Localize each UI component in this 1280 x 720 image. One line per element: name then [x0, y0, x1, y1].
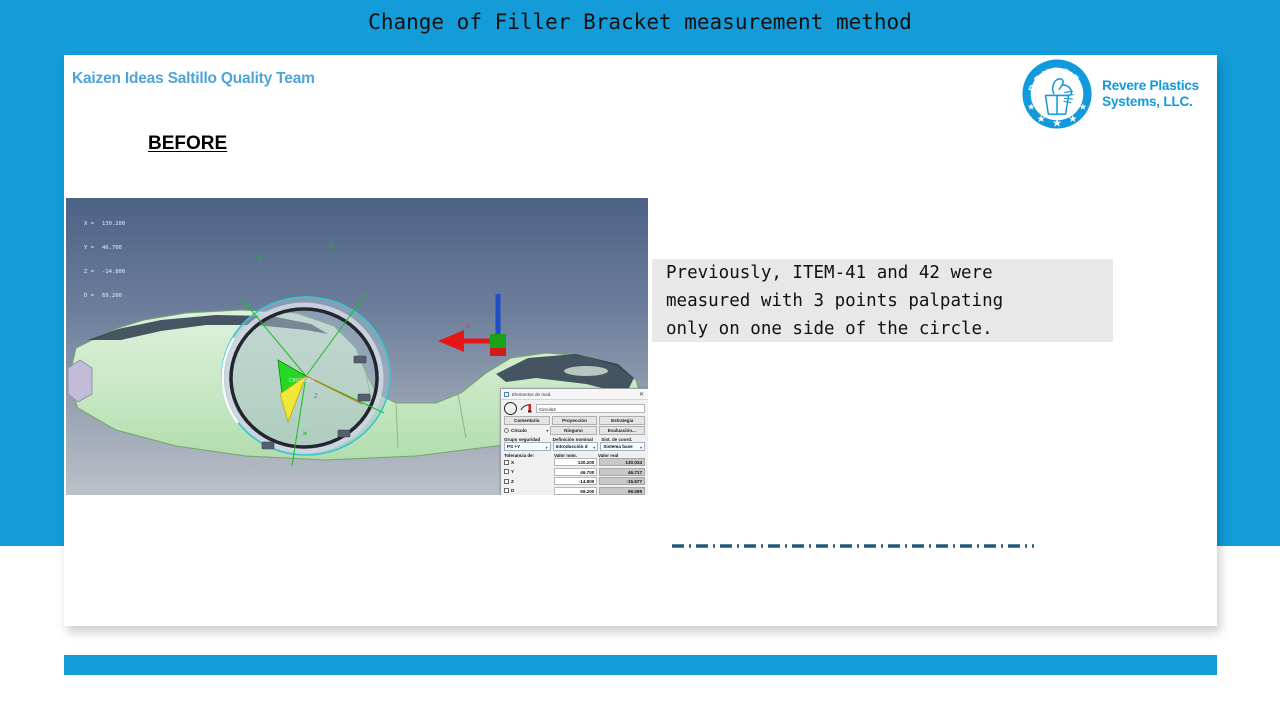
table-row[interactable]: Y 46.700 46.717: [501, 468, 648, 476]
row-label-d: D: [511, 488, 514, 493]
callout-textbox: Previously, ITEM-41 and 42 were measured…: [652, 259, 1113, 342]
circle-feature-icon: [504, 402, 517, 415]
evaluation-button[interactable]: Evaluación...: [599, 426, 645, 435]
header-tolerancia: Tolerancia de:: [504, 453, 554, 458]
checkbox-z[interactable]: [504, 479, 509, 484]
tab-comentario[interactable]: Comentario: [504, 416, 550, 425]
measurement-elements-dialog[interactable]: Elementos de med. ✕ Circulo2 Comentario …: [500, 388, 648, 495]
checkbox-y[interactable]: [504, 469, 509, 474]
row-label-x: X: [511, 460, 514, 465]
dialog-title: Elementos de med.: [512, 392, 639, 397]
radio-icon: [504, 428, 509, 433]
cmm-axis-triad: [490, 294, 506, 356]
dialog-selector-row: Círculo ▾ Ninguno Evaluación...: [501, 426, 648, 436]
nominal-y[interactable]: 46.700: [554, 468, 598, 476]
feature-name-input[interactable]: Circulo2: [536, 404, 645, 413]
nominal-z[interactable]: -14.800: [554, 477, 598, 485]
combo-definicion-nominal[interactable]: Introducción d▾: [553, 442, 599, 451]
table-row[interactable]: D 69.200 69.099: [501, 487, 648, 495]
table-row[interactable]: X 130.200 130.034: [501, 458, 648, 466]
svg-text:✕: ✕: [256, 255, 262, 262]
svg-text:✕: ✕: [302, 431, 308, 438]
checkbox-x[interactable]: [504, 460, 509, 465]
dash-dot-divider: [672, 544, 1034, 548]
probe-tool-icon: [520, 403, 533, 415]
real-x: 130.034: [599, 458, 645, 466]
real-y: 46.717: [599, 468, 645, 476]
svg-text:x: x: [466, 323, 470, 330]
company-logo: REVERE Revere Plastics Systems,: [1021, 58, 1199, 130]
table-row[interactable]: Z -14.800 -15.577: [501, 477, 648, 485]
before-label: BEFORE: [148, 133, 227, 155]
cad-measurement-screenshot: X =130.200 Y =46.700 Z =-14.800 D =69.20…: [66, 198, 648, 495]
deck-title: Change of Filler Bracket measurement met…: [0, 10, 1280, 34]
real-d: 69.099: [599, 487, 645, 495]
dialog-titlebar: Elementos de med. ✕: [501, 389, 648, 400]
checkbox-d[interactable]: [504, 488, 509, 493]
team-subtitle: Kaizen Ideas Saltillo Quality Team: [72, 70, 315, 88]
dialog-app-icon: [504, 392, 509, 397]
row-label-z: Z: [511, 479, 514, 484]
projection-none-button[interactable]: Ninguno: [550, 426, 596, 435]
svg-text:CIRCULO2: CIRCULO2: [289, 378, 315, 384]
real-z: -15.577: [599, 477, 645, 485]
revere-badge-icon: REVERE: [1021, 58, 1093, 130]
row-label-y: Y: [511, 469, 514, 474]
slide-card: Kaizen Ideas Saltillo Quality Team BEFOR…: [64, 55, 1217, 626]
callout-text: Previously, ITEM-41 and 42 were measured…: [666, 259, 1003, 343]
combo-grupo-seguridad[interactable]: PS +Y▾: [504, 442, 551, 451]
tab-proyeccion[interactable]: Proyección: [552, 416, 598, 425]
dialog-combo-row: PS +Y▾ Introducción d▾ Sistema base▾: [501, 442, 648, 453]
dialog-tab-row: Comentario Proyección Estrategia: [501, 416, 648, 426]
combo-sistema-coord[interactable]: Sistema base▾: [600, 442, 645, 451]
close-icon[interactable]: ✕: [639, 391, 645, 398]
logo-company-name: Revere Plastics Systems, LLC.: [1102, 78, 1199, 109]
bottom-accent-bar: [64, 655, 1217, 675]
chevron-down-icon: ▾: [546, 428, 548, 433]
nominal-d[interactable]: 69.200: [554, 487, 598, 495]
slide-canvas: Change of Filler Bracket measurement met…: [0, 0, 1280, 720]
svg-text:✕: ✕: [328, 243, 334, 250]
dialog-feature-row: Circulo2: [501, 400, 648, 416]
svg-text:Z: Z: [314, 394, 318, 400]
tab-estrategia[interactable]: Estrategia: [599, 416, 645, 425]
feature-type-selector[interactable]: Círculo ▾: [504, 426, 548, 435]
nominal-x[interactable]: 130.200: [554, 458, 598, 466]
